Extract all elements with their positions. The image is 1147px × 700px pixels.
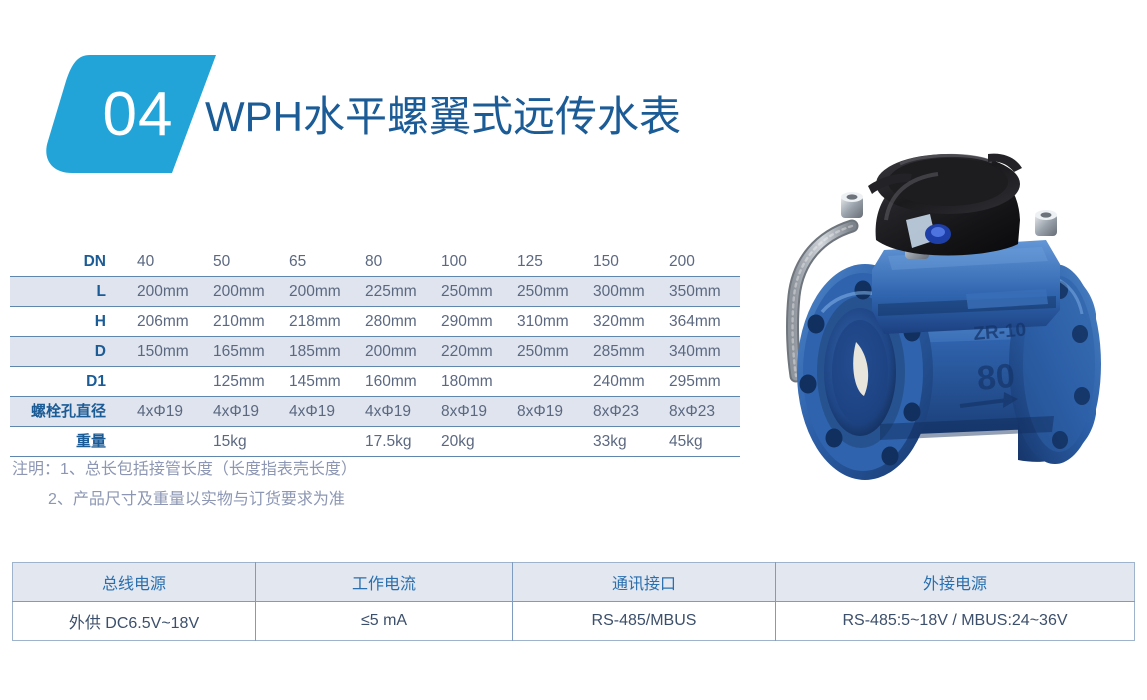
cell-d-6: 285mm	[588, 337, 664, 367]
cell-weight-5	[512, 427, 588, 457]
spec-header-external-power: 外接电源	[776, 563, 1135, 602]
cell-weight-0	[132, 427, 208, 457]
table-row: H 206mm 210mm 218mm 280mm 290mm 310mm 32…	[10, 307, 740, 337]
cell-bolt-6: 8xΦ23	[588, 397, 664, 427]
spec-table-header-row: 总线电源 工作电流 通讯接口 外接电源	[13, 563, 1135, 602]
spec-header-comm-interface: 通讯接口	[513, 563, 776, 602]
cell-h-3: 280mm	[360, 307, 436, 337]
cell-d-0: 150mm	[132, 337, 208, 367]
dn-col-4: 100	[436, 247, 512, 277]
row-label-bolt-hole-diameter: 螺栓孔直径	[10, 397, 132, 427]
dn-col-7: 200	[664, 247, 740, 277]
cell-bolt-5: 8xΦ19	[512, 397, 588, 427]
dn-col-5: 125	[512, 247, 588, 277]
cell-d1-0	[132, 367, 208, 397]
cell-h-7: 364mm	[664, 307, 740, 337]
row-label-d1: D1	[10, 367, 132, 397]
cell-l-3: 225mm	[360, 277, 436, 307]
spec-header-working-current: 工作电流	[256, 563, 513, 602]
cell-bolt-4: 8xΦ19	[436, 397, 512, 427]
dimension-table: DN 40 50 65 80 100 125 150 200 L 200mm 2…	[10, 247, 740, 457]
cell-weight-2	[284, 427, 360, 457]
cell-d-4: 220mm	[436, 337, 512, 367]
spec-table-value-row: 外供 DC6.5V~18V ≤5 mA RS-485/MBUS RS-485:5…	[13, 602, 1135, 641]
cell-bolt-3: 4xΦ19	[360, 397, 436, 427]
cell-d1-6: 240mm	[588, 367, 664, 397]
embossed-size-text: 80	[975, 357, 1016, 398]
cell-d1-3: 160mm	[360, 367, 436, 397]
notes-block: 注明：1、总长包括接管长度（长度指表壳长度） 2、产品尺寸及重量以实物与订货要求…	[12, 455, 357, 515]
dn-col-2: 65	[284, 247, 360, 277]
cell-h-4: 290mm	[436, 307, 512, 337]
note-line-2: 2、产品尺寸及重量以实物与订货要求为准	[12, 485, 357, 515]
cell-weight-6: 33kg	[588, 427, 664, 457]
spec-value-comm-interface: RS-485/MBUS	[513, 602, 776, 641]
spec-value-working-current: ≤5 mA	[256, 602, 513, 641]
table-row: D1 125mm 145mm 160mm 180mm 240mm 295mm	[10, 367, 740, 397]
cell-d1-4: 180mm	[436, 367, 512, 397]
cell-d1-7: 295mm	[664, 367, 740, 397]
cell-weight-3: 17.5kg	[360, 427, 436, 457]
spec-table-container: 总线电源 工作电流 通讯接口 外接电源 外供 DC6.5V~18V ≤5 mA …	[12, 562, 1134, 641]
cell-d-2: 185mm	[284, 337, 360, 367]
cell-l-0: 200mm	[132, 277, 208, 307]
cell-d-7: 340mm	[664, 337, 740, 367]
cell-bolt-7: 8xΦ23	[664, 397, 740, 427]
cell-weight-4: 20kg	[436, 427, 512, 457]
row-label-h: H	[10, 307, 132, 337]
row-label-l: L	[10, 277, 132, 307]
table-row: 重量 15kg 17.5kg 20kg 33kg 45kg	[10, 427, 740, 457]
dn-col-3: 80	[360, 247, 436, 277]
cell-l-7: 350mm	[664, 277, 740, 307]
cell-h-6: 320mm	[588, 307, 664, 337]
cell-d1-1: 125mm	[208, 367, 284, 397]
cell-d1-5	[512, 367, 588, 397]
product-photo-water-meter: ZR-10 80	[760, 128, 1147, 503]
dn-col-0: 40	[132, 247, 208, 277]
cell-h-0: 206mm	[132, 307, 208, 337]
table-row-header: DN 40 50 65 80 100 125 150 200	[10, 247, 740, 277]
cell-h-1: 210mm	[208, 307, 284, 337]
row-label-d: D	[10, 337, 132, 367]
cell-h-2: 218mm	[284, 307, 360, 337]
cell-h-5: 310mm	[512, 307, 588, 337]
cell-l-5: 250mm	[512, 277, 588, 307]
cell-l-6: 300mm	[588, 277, 664, 307]
table-row: D 150mm 165mm 185mm 200mm 220mm 250mm 28…	[10, 337, 740, 367]
cell-weight-1: 15kg	[208, 427, 284, 457]
spec-value-bus-power: 外供 DC6.5V~18V	[13, 602, 256, 641]
spec-value-external-power: RS-485:5~18V / MBUS:24~36V	[776, 602, 1135, 641]
row-label-weight: 重量	[10, 427, 132, 457]
cell-d-5: 250mm	[512, 337, 588, 367]
page-title: WPH水平螺翼式远传水表	[205, 83, 681, 144]
cell-d-1: 165mm	[208, 337, 284, 367]
cell-bolt-2: 4xΦ19	[284, 397, 360, 427]
cell-weight-7: 45kg	[664, 427, 740, 457]
spec-table: 总线电源 工作电流 通讯接口 外接电源 外供 DC6.5V~18V ≤5 mA …	[12, 562, 1135, 641]
cell-d1-2: 145mm	[284, 367, 360, 397]
section-number-label: 04	[46, 55, 216, 173]
dn-col-6: 150	[588, 247, 664, 277]
spec-header-bus-power: 总线电源	[13, 563, 256, 602]
cell-bolt-0: 4xΦ19	[132, 397, 208, 427]
cell-d-3: 200mm	[360, 337, 436, 367]
dimension-table-container: DN 40 50 65 80 100 125 150 200 L 200mm 2…	[10, 247, 740, 457]
cell-l-2: 200mm	[284, 277, 360, 307]
dn-header-label: DN	[10, 247, 132, 277]
table-row: L 200mm 200mm 200mm 225mm 250mm 250mm 30…	[10, 277, 740, 307]
cell-l-1: 200mm	[208, 277, 284, 307]
dn-col-1: 50	[208, 247, 284, 277]
table-row: 螺栓孔直径 4xΦ19 4xΦ19 4xΦ19 4xΦ19 8xΦ19 8xΦ1…	[10, 397, 740, 427]
note-line-1: 注明：1、总长包括接管长度（长度指表壳长度）	[12, 455, 357, 485]
cell-bolt-1: 4xΦ19	[208, 397, 284, 427]
cell-l-4: 250mm	[436, 277, 512, 307]
